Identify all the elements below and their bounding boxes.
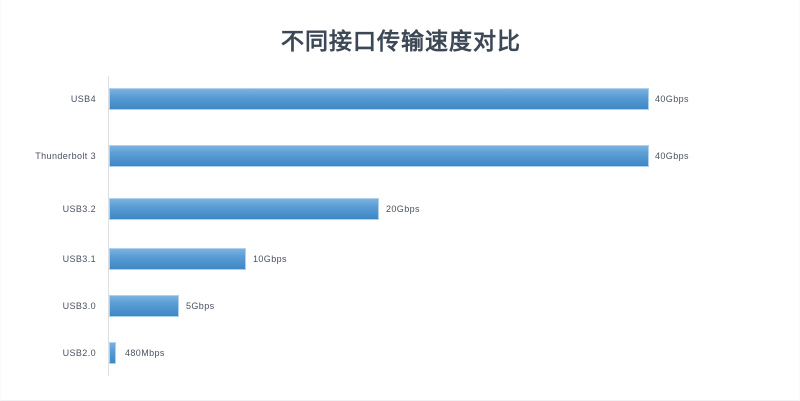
bar-usb4[interactable] — [109, 88, 649, 110]
category-label: USB2.0 — [1, 342, 96, 364]
category-label: USB4 — [1, 88, 96, 110]
value-label: 480Mbps — [125, 342, 165, 364]
bar-row: USB3.2 20Gbps — [1, 198, 800, 220]
category-label: USB3.0 — [1, 295, 96, 317]
bar-usb3-2[interactable] — [109, 198, 379, 220]
bar-container — [109, 145, 649, 167]
value-label: 5Gbps — [186, 295, 215, 317]
bar-container — [109, 342, 116, 364]
bar-container — [109, 295, 179, 317]
value-label: 20Gbps — [386, 198, 420, 220]
chart-canvas: 不同接口传输速度对比 USB4 40Gbps Thunderbolt 3 40G… — [0, 0, 800, 401]
bar-thunderbolt-3[interactable] — [109, 145, 649, 167]
value-label: 10Gbps — [253, 248, 287, 270]
value-label: 40Gbps — [655, 145, 689, 167]
bar-row: USB4 40Gbps — [1, 88, 800, 110]
bar-container — [109, 88, 649, 110]
bar-container — [109, 248, 246, 270]
category-label: USB3.1 — [1, 248, 96, 270]
bar-usb3-0[interactable] — [109, 295, 179, 317]
bar-row: Thunderbolt 3 40Gbps — [1, 145, 800, 167]
bar-usb3-1[interactable] — [109, 248, 246, 270]
plot-area: USB4 40Gbps Thunderbolt 3 40Gbps USB3.2 … — [1, 0, 800, 401]
category-label: Thunderbolt 3 — [1, 145, 96, 167]
value-label: 40Gbps — [655, 88, 689, 110]
bar-usb2-0[interactable] — [109, 342, 116, 364]
bar-row: USB3.1 10Gbps — [1, 248, 800, 270]
category-label: USB3.2 — [1, 198, 96, 220]
bar-container — [109, 198, 379, 220]
y-axis-line — [108, 76, 109, 376]
bar-row: USB2.0 480Mbps — [1, 342, 800, 364]
bar-row: USB3.0 5Gbps — [1, 295, 800, 317]
